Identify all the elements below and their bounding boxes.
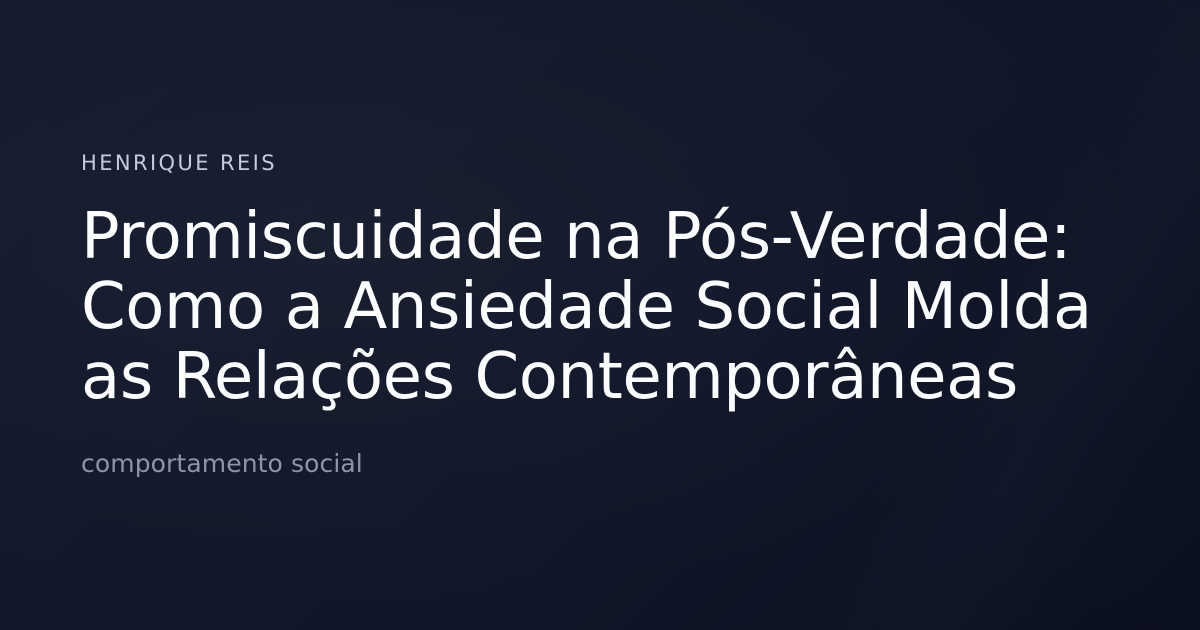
article-title: Promiscuidade na Pós-Verdade: Como a Ans… (81, 202, 1136, 412)
card-content: HENRIQUE REIS Promiscuidade na Pós-Verda… (81, 0, 1141, 630)
article-category: comportamento social (81, 448, 1141, 480)
social-share-card: HENRIQUE REIS Promiscuidade na Pós-Verda… (0, 0, 1200, 630)
author-name: HENRIQUE REIS (81, 150, 1141, 176)
